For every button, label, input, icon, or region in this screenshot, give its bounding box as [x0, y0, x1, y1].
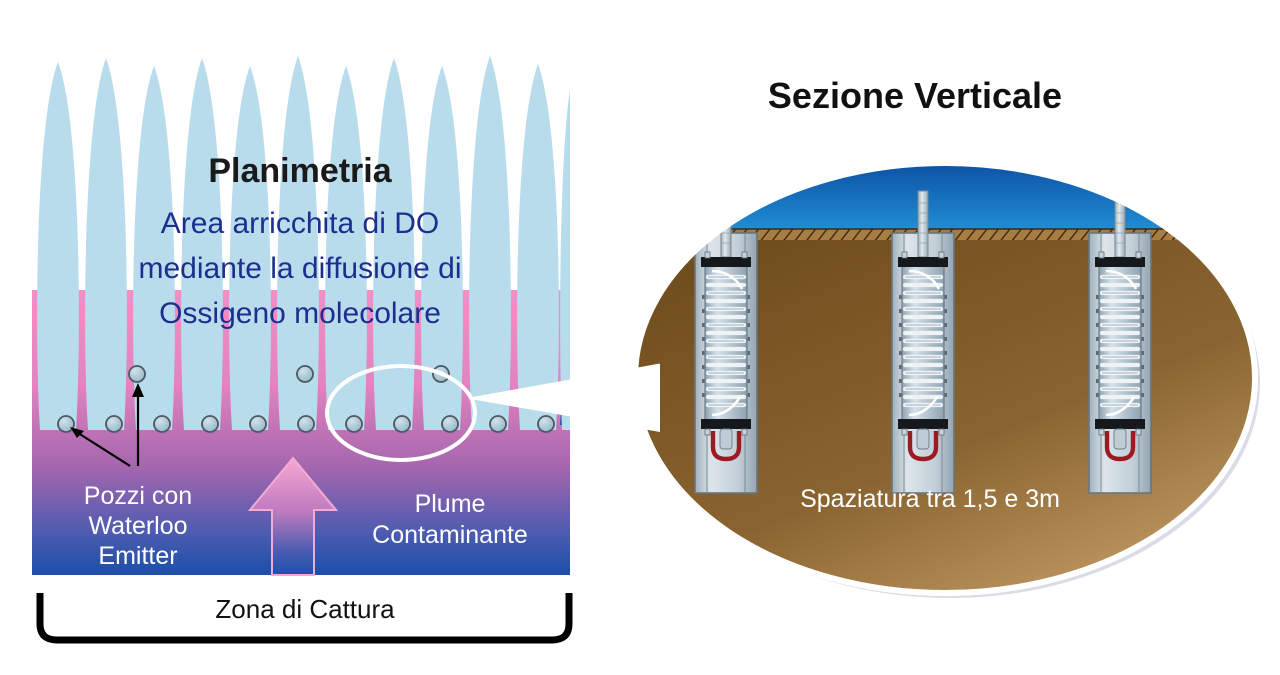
plan-view-title: Planimetria [208, 152, 392, 190]
plan-view-description-line-3: Ossigeno molecolare [159, 297, 441, 330]
plume-label-line-1: Plume [415, 490, 486, 518]
plan-view-description-line-1: Area arricchita di DO [161, 207, 439, 240]
section-view-title: Sezione Verticale [768, 75, 1062, 116]
wells-label-line-3: Emitter [98, 542, 177, 570]
figure-root: Planimetria Area arricchita di DO median… [0, 0, 1280, 675]
text-layer: Planimetria Area arricchita di DO median… [0, 0, 1280, 675]
wells-label-line-2: Waterloo [88, 512, 187, 540]
capture-zone-label: Zona di Cattura [215, 594, 395, 624]
plan-view-description-line-2: mediante la diffusione di [139, 252, 462, 285]
plume-label-line-2: Contaminante [372, 521, 528, 549]
wells-label-line-1: Pozzi con [84, 482, 192, 510]
spacing-label: Spaziatura tra 1,5 e 3m [800, 485, 1060, 513]
